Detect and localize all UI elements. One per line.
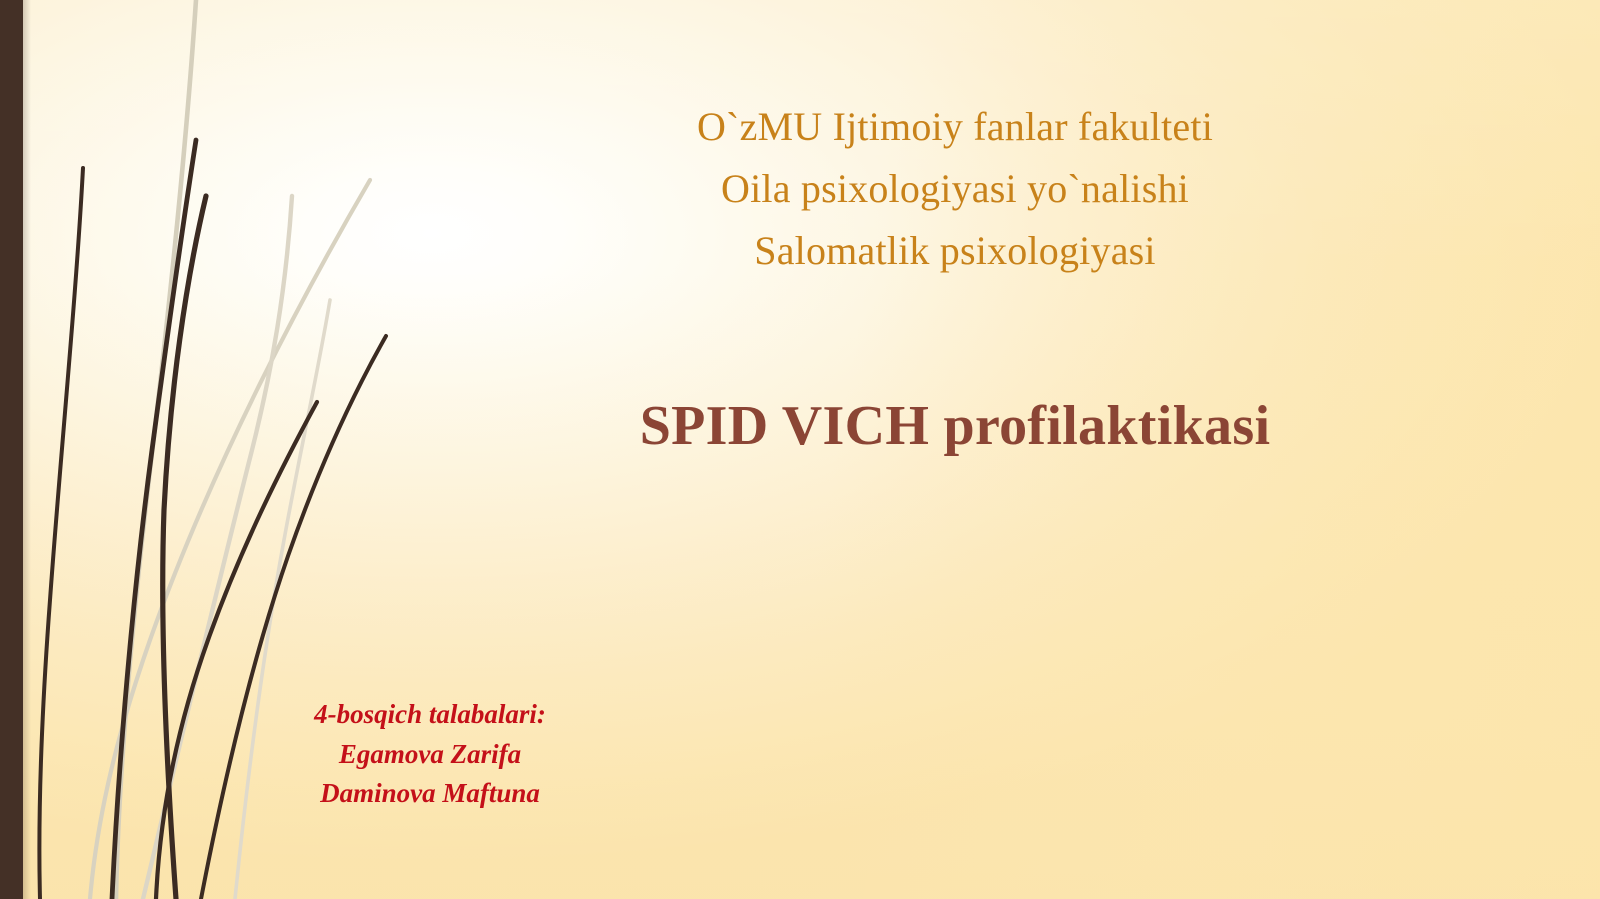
slide-subheading: O`zMU Ijtimoiy fanlar fakulteti Oila psi… — [420, 96, 1490, 282]
heading-line-subject: Salomatlik psixologiyasi — [420, 220, 1490, 282]
presentation-slide: O`zMU Ijtimoiy fanlar fakulteti Oila psi… — [0, 0, 1600, 899]
authors-role-label: 4-bosqich talabalari: — [265, 695, 595, 735]
slide-title: SPID VICH profilaktikasi — [420, 395, 1490, 458]
heading-line-direction: Oila psixologiyasi yo`nalishi — [420, 158, 1490, 220]
left-vertical-bar-shadow — [23, 0, 31, 899]
heading-line-faculty: O`zMU Ijtimoiy fanlar fakulteti — [420, 96, 1490, 158]
authors-block: 4-bosqich talabalari: Egamova Zarifa Dam… — [265, 695, 595, 814]
author-name-1: Egamova Zarifa — [265, 735, 595, 775]
left-vertical-bar-decoration — [0, 0, 23, 899]
author-name-2: Daminova Maftuna — [265, 774, 595, 814]
